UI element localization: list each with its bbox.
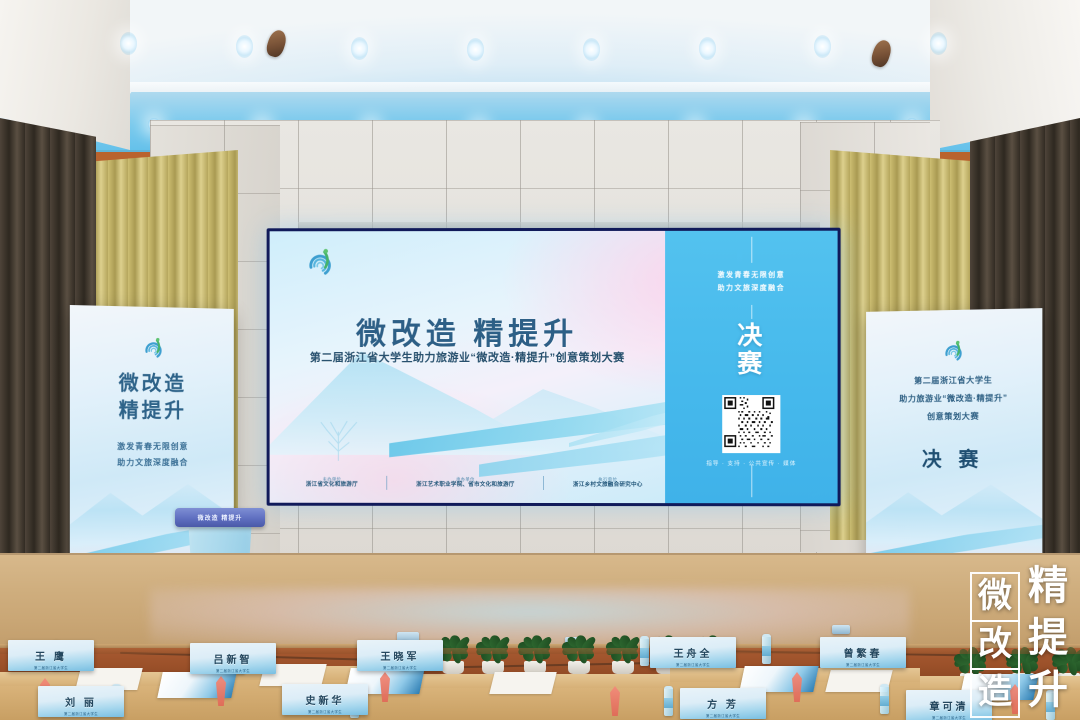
name-card: 王舟全 第二届浙江省大学生: [650, 637, 736, 668]
name-card: 方 芳 第二届浙江省大学生: [680, 688, 766, 719]
organizer-item: 执行单位 浙江乡村文旅融合研究中心: [573, 477, 643, 491]
side-hairline-bottom: [751, 465, 752, 497]
name-card: 史新华 第二届浙江省大学生: [282, 684, 368, 715]
organizer-name: 浙江乡村文旅融合研究中心: [573, 482, 643, 490]
screen-subtitle: 第二届浙江省大学生助力旅游业“微改造·精提升”创意策划大赛: [270, 349, 665, 365]
potted-plant: [470, 636, 516, 674]
qr-code[interactable]: [722, 395, 780, 453]
bottle-label: [880, 696, 889, 706]
bottle-label: [762, 646, 771, 656]
organizer-divider: [543, 476, 544, 490]
name-card-text: 刘 丽: [65, 694, 97, 709]
ceiling-downlight: [583, 38, 600, 61]
side-slogan-line1: 激发青春无限创意: [665, 269, 838, 282]
name-card-footer: 第二届浙江省大学生: [650, 662, 736, 667]
water-bottle: [762, 634, 771, 664]
side-stage-label-char1: 决: [665, 323, 838, 351]
standing-banner-right: 第二届浙江省大学生 助力旅游业“微改造·精提升” 创意策划大赛 决 赛: [866, 308, 1042, 584]
name-card-text: 王晓军: [381, 648, 420, 663]
side-slogan: 激发青春无限创意 助力文旅深度融合: [665, 269, 838, 296]
auditorium-stage-photo: 微改造 精提升 第二届浙江省大学生助力旅游业“微改造·精提升”创意策划大赛 主办…: [0, 0, 1080, 720]
banner-left-title-line2: 精提升: [70, 397, 234, 425]
paper-sheet: [489, 672, 556, 694]
led-screen-surface: 微改造 精提升 第二届浙江省大学生助力旅游业“微改造·精提升”创意策划大赛 主办…: [270, 231, 838, 504]
organizer-name: 浙江省文化和旅游厅: [306, 482, 358, 490]
bottle-label: [664, 698, 673, 708]
event-logo-icon: [302, 245, 336, 279]
name-card: 刘 丽 第二届浙江省大学生: [38, 686, 124, 717]
organizer-name: 浙江艺术职业学院、省市文化和旅游厅: [416, 482, 514, 490]
plant-pot: [612, 661, 634, 674]
coral-branch-graphic: [309, 411, 367, 461]
name-card: 章可清 第二届浙江省大学生: [906, 690, 992, 720]
side-slogan-line2: 助力文旅深度融合: [665, 282, 838, 295]
event-logo-icon: [940, 338, 966, 364]
plant-pot: [442, 661, 464, 674]
banner-left-sub-line2: 助力文旅深度融合: [70, 455, 234, 472]
podium-top: 微改造 精提升: [175, 508, 265, 527]
screen-organizer-row: 主办单位 浙江省文化和旅游厅 承办单位 浙江艺术职业学院、省市文化和旅游厅 执行…: [292, 476, 658, 490]
potted-plant: [556, 636, 602, 674]
screen-title: 微改造 精提升: [270, 309, 665, 353]
name-card: 吕新智 第二届浙江省大学生: [190, 643, 276, 674]
side-stage-label: 决 赛: [665, 323, 838, 379]
potted-plant: [512, 636, 558, 674]
name-card-footer: 第二届浙江省大学生: [820, 662, 906, 667]
table-back-row: [0, 648, 1080, 654]
screen-side-panel: 激发青春无限创意 助力文旅深度融合 决 赛: [665, 231, 838, 504]
name-card: 王晓军 第二届浙江省大学生: [357, 640, 443, 671]
water-bottle: [1046, 690, 1055, 720]
water-bottle: [640, 636, 649, 666]
side-stage-label-char2: 赛: [665, 351, 838, 379]
water-bottle: [664, 686, 673, 716]
name-card-footer: 第二届浙江省大学生: [8, 665, 94, 670]
event-logo-icon: [140, 335, 166, 361]
banner-right-sub-line2: 助力旅游业“微改造·精提升”: [866, 389, 1042, 408]
banner-left-sub-line1: 激发青春无限创意: [70, 439, 234, 455]
ceiling-downlight: [699, 37, 716, 60]
banner-right-sub-line1: 第二届浙江省大学生: [866, 371, 1042, 391]
name-card-text: 吕新智: [214, 651, 253, 666]
ceiling-downlight: [467, 38, 484, 61]
name-card-text: 曾繁春: [844, 645, 883, 660]
name-card-text: 史新华: [306, 692, 345, 707]
side-hairline-top: [751, 237, 752, 263]
ceiling-downlight: [120, 32, 137, 55]
name-card-text: 章可清: [930, 698, 969, 713]
audio-receiver-box: [832, 625, 850, 634]
name-card-footer: 第二届浙江省大学生: [282, 709, 368, 714]
name-card-footer: 第二届浙江省大学生: [906, 715, 992, 720]
water-bottle: [880, 684, 889, 714]
organizer-item: 主办单位 浙江省文化和旅游厅: [306, 476, 358, 490]
podium-top-label: 微改造 精提升: [175, 508, 265, 527]
side-hairline-mid: [751, 305, 752, 319]
bottle-label: [1046, 702, 1055, 712]
plant-pot: [568, 661, 590, 674]
name-card: 曾繁春 第二届浙江省大学生: [820, 637, 906, 668]
qr-code-icon: [724, 397, 774, 447]
organizer-item: 承办单位 浙江艺术职业学院、省市文化和旅游厅: [416, 476, 514, 490]
ceiling-downlight: [930, 32, 947, 55]
banner-left-title: 微改造 精提升: [70, 370, 234, 425]
ceiling-downlight: [236, 35, 253, 58]
bottle-label: [640, 648, 649, 658]
banner-left-title-line1: 微改造: [70, 370, 234, 399]
banner-right-subtitle: 第二届浙江省大学生 助力旅游业“微改造·精提升” 创意策划大赛: [866, 371, 1042, 426]
name-card-text: 王舟全: [674, 645, 713, 660]
name-card-footer: 第二届浙江省大学生: [680, 713, 766, 718]
organizer-divider: [386, 476, 387, 490]
banner-left-subtitle: 激发青春无限创意 助力文旅深度融合: [70, 439, 234, 471]
name-card: 王 鹰 第二届浙江省大学生: [8, 640, 94, 671]
name-card-footer: 第二届浙江省大学生: [190, 668, 276, 673]
led-screen: 微改造 精提升 第二届浙江省大学生助力旅游业“微改造·精提升”创意策划大赛 主办…: [267, 228, 841, 507]
name-card-text: 方 芳: [707, 696, 739, 711]
name-card-text: 王 鹰: [35, 648, 67, 663]
banner-right-sub-line3: 创意策划大赛: [866, 408, 1042, 427]
banner-right-stage-label: 决 赛: [866, 443, 1042, 472]
name-card-footer: 第二届浙江省大学生: [357, 665, 443, 670]
name-card-footer: 第二届浙江省大学生: [38, 711, 124, 716]
stage-floor-seam: [0, 553, 1080, 555]
